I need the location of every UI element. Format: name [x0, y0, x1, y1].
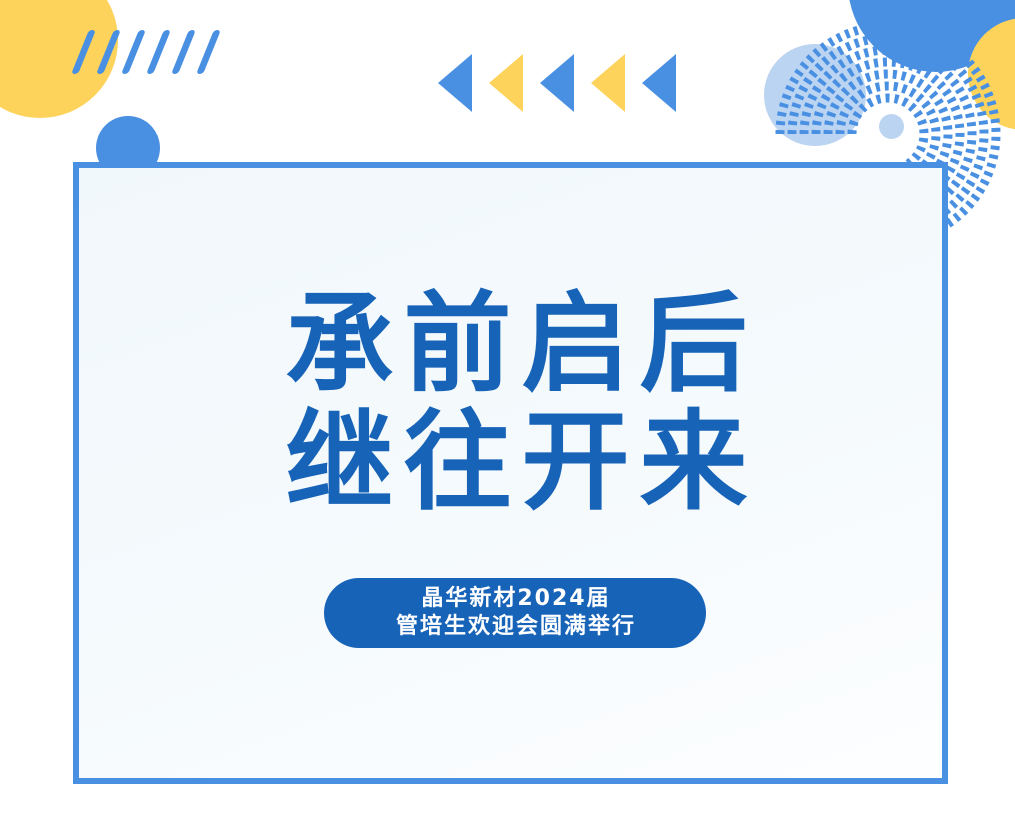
status-badge: 晶华新材2024届 管培生欢迎会圆满举行	[324, 578, 706, 648]
arrow-triangle-5-icon	[642, 54, 676, 112]
diagonal-slashes-icon	[78, 30, 214, 74]
badge-line-1: 晶华新材2024届	[419, 585, 610, 613]
light-blue-dot-icon	[879, 114, 904, 139]
arrow-triangle-1-icon	[438, 54, 472, 112]
headline-line-2: 继往开来	[79, 404, 954, 522]
main-frame-card: 承前启后 继往开来 晶华新材2024届 管培生欢迎会圆满举行	[73, 162, 948, 784]
poster-canvas: 承前启后 继往开来 晶华新材2024届 管培生欢迎会圆满举行	[0, 0, 1015, 835]
headline-line-1: 承前启后	[79, 286, 954, 404]
arrow-triangle-4-icon	[591, 54, 625, 112]
badge-line-2: 管培生欢迎会圆满举行	[394, 613, 636, 641]
arrow-triangle-2-icon	[489, 54, 523, 112]
arrow-triangle-3-icon	[540, 54, 574, 112]
page-title: 承前启后 继往开来	[79, 286, 954, 522]
